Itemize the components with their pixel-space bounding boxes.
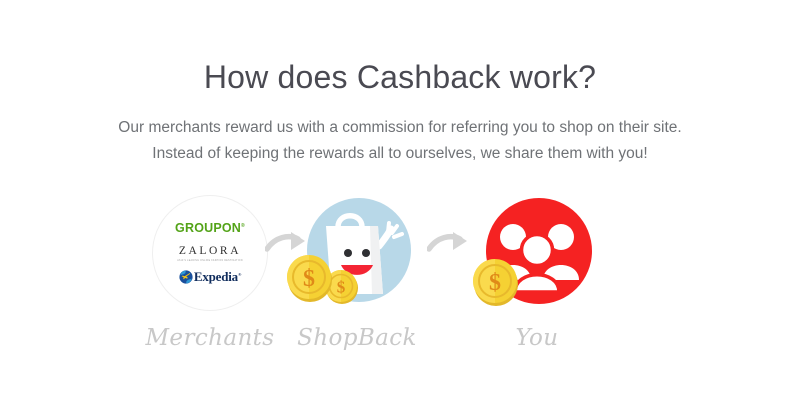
expedia-logo: Expedia	[179, 269, 241, 285]
svg-text:$: $	[337, 278, 346, 297]
expedia-globe-icon	[179, 270, 193, 284]
expedia-logo-text: Expedia	[194, 269, 241, 285]
shopback-coins: $ $	[300, 196, 414, 310]
flow-step-shopback: $ $ ShopBack	[272, 196, 442, 351]
shopback-circle: $ $	[300, 196, 414, 310]
zalora-logo: ZALORA ASIA'S LEADING ONLINE FASHION DES…	[177, 242, 243, 262]
svg-text:$: $	[489, 270, 501, 296]
groupon-logo: GROUPON	[175, 221, 245, 235]
merchants-circle: GROUPON ZALORA ASIA'S LEADING ONLINE FAS…	[153, 196, 267, 310]
you-coin: $	[480, 196, 594, 310]
flow-step-label-shopback: ShopBack	[272, 325, 442, 351]
flow-step-label-merchants: Merchants	[125, 325, 295, 351]
zalora-logo-text: ZALORA	[179, 245, 241, 257]
cashback-flow-diagram: GROUPON ZALORA ASIA'S LEADING ONLINE FAS…	[0, 196, 800, 366]
merchant-logo-stack: GROUPON ZALORA ASIA'S LEADING ONLINE FAS…	[153, 196, 267, 310]
coin-large: $	[287, 255, 332, 302]
flow-step-you: $ You	[452, 196, 622, 351]
svg-text:$: $	[303, 266, 315, 292]
page-title: How does Cashback work?	[0, 59, 800, 96]
intro-paragraph: Our merchants reward us with a commissio…	[100, 115, 700, 167]
coin-large: $	[473, 259, 518, 306]
flow-step-label-you: You	[452, 325, 622, 351]
zalora-logo-tagline: ASIA'S LEADING ONLINE FASHION DESTINATIO…	[177, 260, 243, 262]
you-circle: $	[480, 196, 594, 310]
flow-step-merchants: GROUPON ZALORA ASIA'S LEADING ONLINE FAS…	[125, 196, 295, 351]
